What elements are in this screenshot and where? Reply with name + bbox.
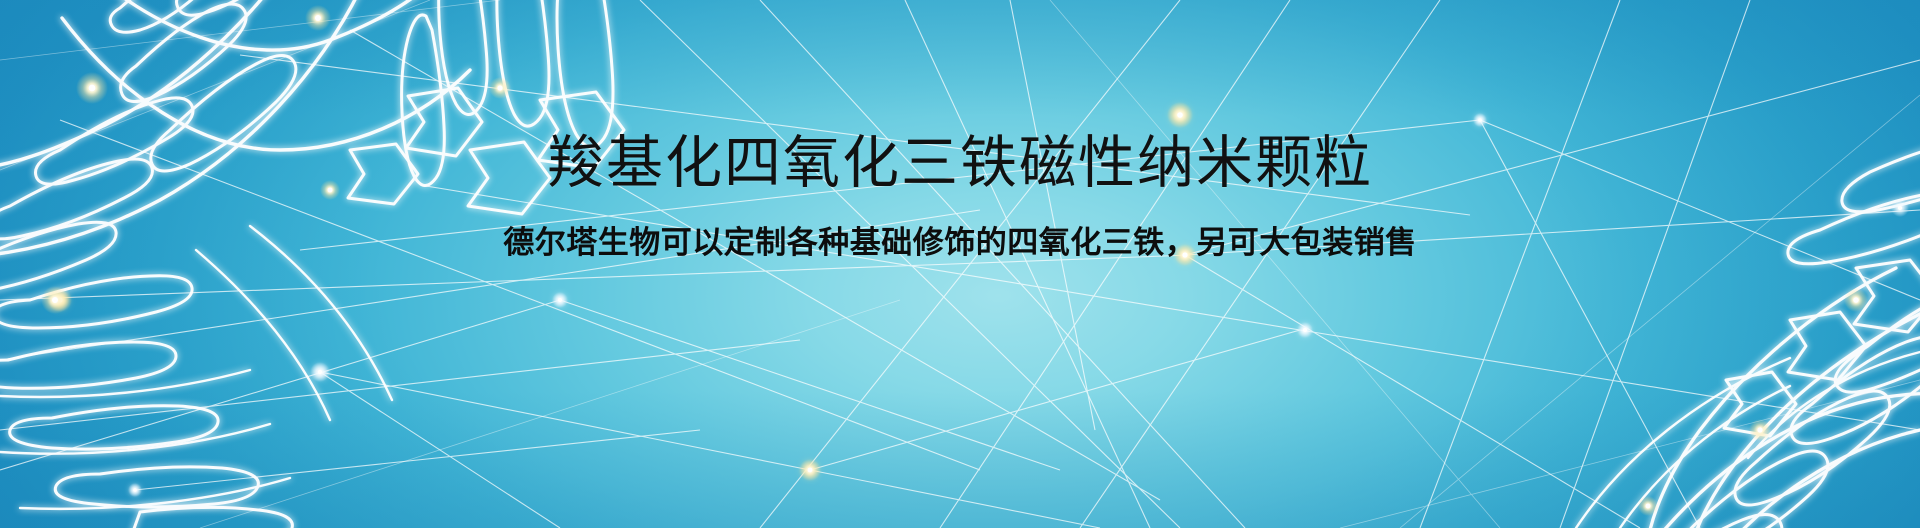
- promo-banner: 羧基化四氧化三铁磁性纳米颗粒 德尔塔生物可以定制各种基础修饰的四氧化三铁，另可大…: [0, 0, 1920, 528]
- banner-title: 羧基化四氧化三铁磁性纳米颗粒: [547, 134, 1373, 194]
- banner-subtitle: 德尔塔生物可以定制各种基础修饰的四氧化三铁，另可大包装销售: [503, 226, 1417, 260]
- banner-text-block: 羧基化四氧化三铁磁性纳米颗粒 德尔塔生物可以定制各种基础修饰的四氧化三铁，另可大…: [0, 0, 1920, 528]
